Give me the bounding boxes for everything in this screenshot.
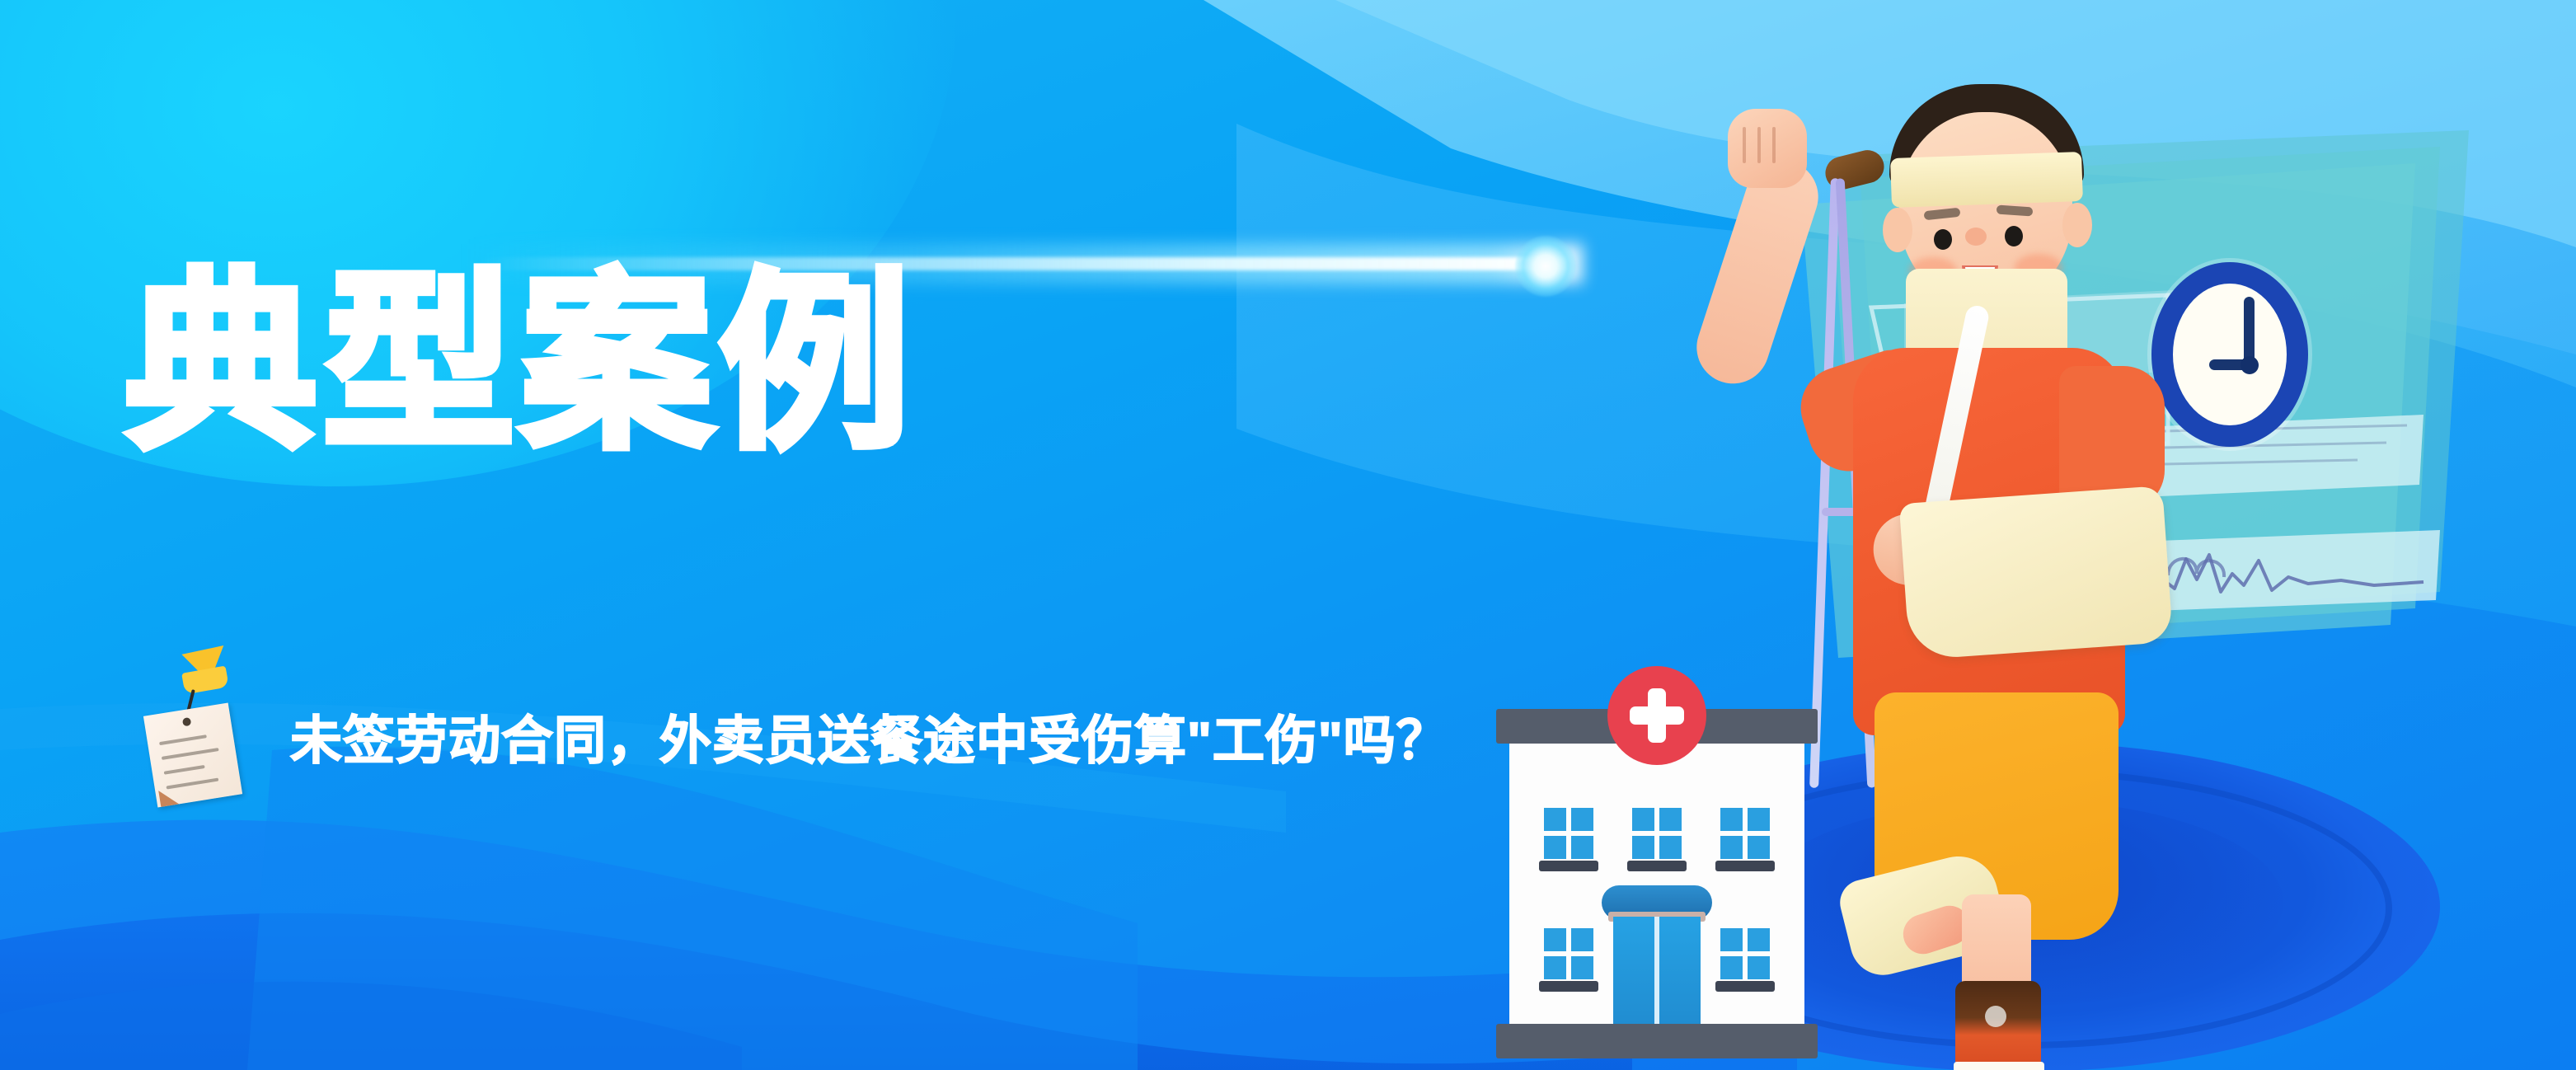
illustration-group: [1509, 0, 2576, 1070]
clock-center-pin: [2241, 356, 2259, 374]
clock-minute-hand: [2244, 297, 2255, 364]
head-bandage: [1890, 152, 2083, 208]
nose: [1965, 228, 1987, 246]
memo-hole: [182, 717, 191, 726]
pinned-memo: [142, 648, 257, 805]
arm-sling: [1899, 486, 2173, 660]
memo-card: [143, 703, 242, 808]
page-subtitle: 未签劳动合同，外卖员送餐途中受伤算"工伤"吗？: [290, 716, 1449, 767]
shoe-lace: [1985, 1006, 2006, 1027]
hospital-base: [1496, 1024, 1818, 1058]
red-cross-icon: [1607, 666, 1706, 765]
ear-right: [2062, 203, 2092, 247]
page-title: 典型案例: [125, 269, 917, 460]
memo-fold: [158, 788, 179, 807]
shoe-sole: [1954, 1062, 2044, 1070]
banner-root: 典型案例 未签劳动合同，外卖员送餐途中受伤算"工伤"吗？: [0, 0, 2576, 1070]
ear-left: [1883, 208, 1912, 252]
hospital-building: [1496, 709, 1818, 1070]
raised-fist-icon: [1728, 109, 1807, 188]
